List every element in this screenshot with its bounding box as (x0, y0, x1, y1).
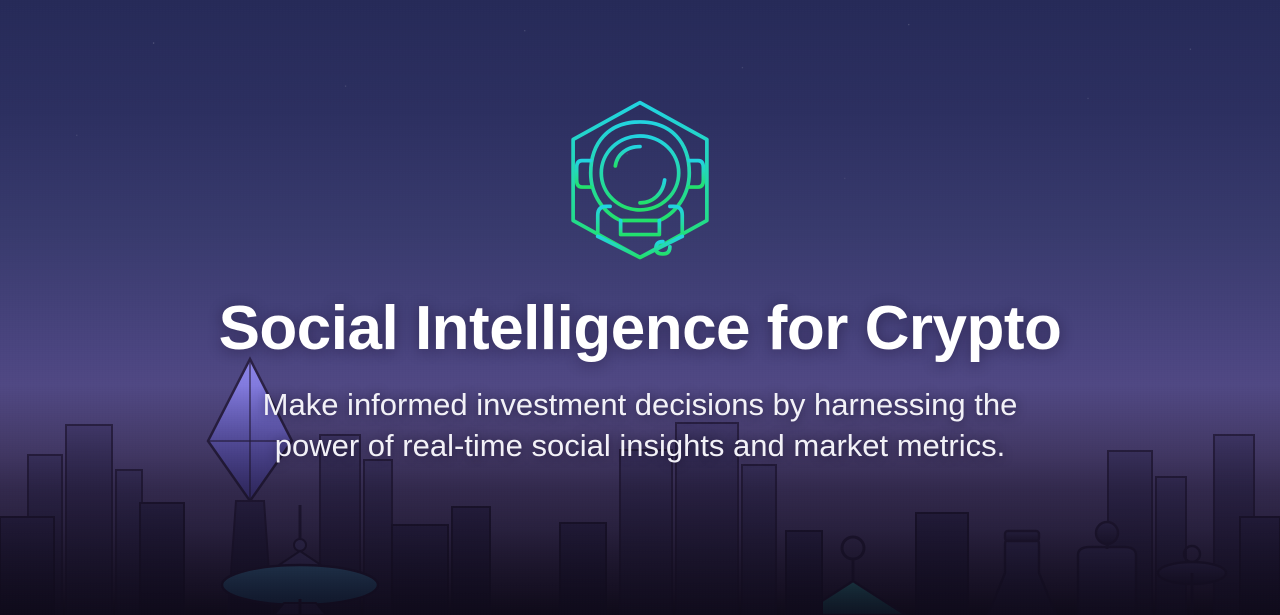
page-title: Social Intelligence for Crypto (219, 296, 1062, 362)
hero-banner: Social Intelligence for Crypto Make info… (0, 0, 1280, 615)
astronaut-hexagon-logo[interactable] (552, 92, 728, 268)
hero-subheading: Make informed investment decisions by ha… (263, 384, 1018, 467)
astronaut-hexagon-icon (552, 92, 728, 268)
subheading-line-1: Make informed investment decisions by ha… (263, 384, 1018, 426)
subheading-line-2: power of real-time social insights and m… (263, 425, 1018, 467)
hero-content: Social Intelligence for Crypto Make info… (0, 0, 1280, 615)
